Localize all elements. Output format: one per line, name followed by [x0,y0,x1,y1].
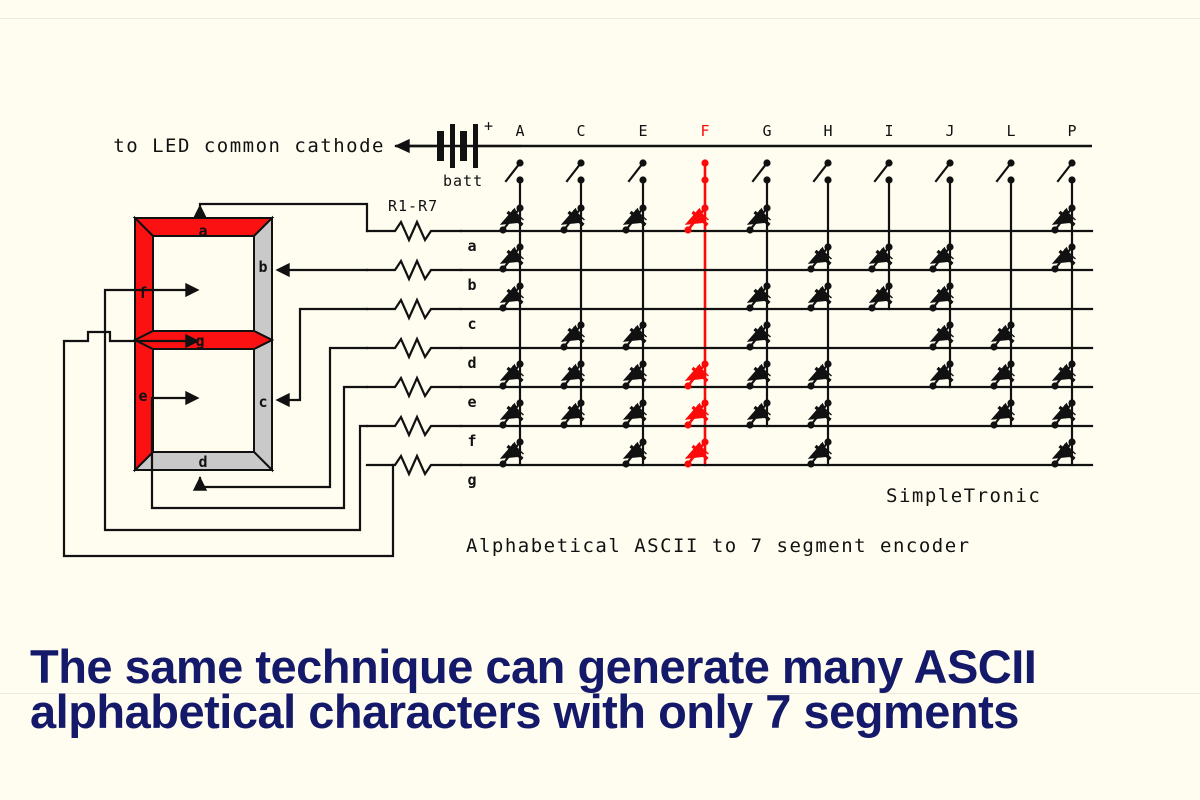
diode-C-e-cathode-node [577,360,584,367]
diode-E-g-cathode-node [639,438,646,445]
wire-d-arrow-icon [194,478,206,490]
resistor-f [367,417,461,435]
diode-J-b-cathode-node [946,243,953,250]
diode-A-g-cathode-node [516,438,523,445]
diode-F-e-cathode-node [701,360,708,367]
diode-E-e-cathode-node [639,360,646,367]
diode-E-e-anode-node [622,382,629,389]
column-header-G: G [762,122,771,140]
diode-L-e-cathode-node [1007,360,1014,367]
diode-H-c-cathode-node [824,282,831,289]
diode-L-d-anode-node [990,343,997,350]
row-label-f: f [467,432,476,450]
diode-A-f-anode-node [499,421,506,428]
diode-J-c-cathode-node [946,282,953,289]
caption-line-1: The same technique can generate many ASC… [30,645,1180,690]
diode-C-a-anode-node [560,226,567,233]
row-label-a: a [467,237,476,255]
wire-f-arrow-icon [186,284,198,296]
diode-J-b-anode-node [929,265,936,272]
diode-P-b-cathode-node [1068,243,1075,250]
diode-G-d-anode-node [746,343,753,350]
display-label-e: e [138,387,147,405]
display-label-d: d [198,453,207,471]
column-header-F: F [700,122,709,140]
wire-c-arrow-icon [277,394,289,406]
diode-F-g-cathode-node [701,438,708,445]
row-label-e: e [467,393,476,411]
diode-G-e-cathode-node [763,360,770,367]
diode-L-f-anode-node [990,421,997,428]
diode-P-f-anode-node [1051,421,1058,428]
resistor-d [367,339,461,357]
diode-I-b-anode-node [868,265,875,272]
diode-A-c-anode-node [499,304,506,311]
diode-L-e-anode-node [990,382,997,389]
diode-P-a-cathode-node [1068,204,1075,211]
diode-I-c-cathode-node [885,282,892,289]
diode-A-b-anode-node [499,265,506,272]
diode-C-a-cathode-node [577,204,584,211]
diode-A-e-anode-node [499,382,506,389]
diode-E-d-anode-node [622,343,629,350]
diode-A-a-cathode-node [516,204,523,211]
diode-P-a-anode-node [1051,226,1058,233]
diode-E-f-anode-node [622,421,629,428]
wire-a-arrow-icon [194,206,206,218]
resistor-a [367,222,461,240]
diode-P-e-cathode-node [1068,360,1075,367]
diode-A-a-anode-node [499,226,506,233]
diode-G-e-anode-node [746,382,753,389]
display-segment-e [135,340,153,470]
diode-C-d-cathode-node [577,321,584,328]
diode-G-c-anode-node [746,304,753,311]
resistor-g [367,456,461,474]
diode-E-d-cathode-node [639,321,646,328]
encoder-schematic: +battto LED common cathodeACEFGHIJLPabcd… [0,0,1200,640]
diode-J-d-anode-node [929,343,936,350]
battery-positive-label: + [484,117,494,135]
caption-block: The same technique can generate many ASC… [30,645,1180,734]
diode-H-e-cathode-node [824,360,831,367]
diode-E-f-cathode-node [639,399,646,406]
diode-A-b-cathode-node [516,243,523,250]
diode-F-a-anode-node [684,226,691,233]
diode-I-c-anode-node [868,304,875,311]
diode-F-e-anode-node [684,382,691,389]
wire-e-arrow-icon [186,392,198,404]
diode-J-e-cathode-node [946,360,953,367]
diode-C-f-anode-node [560,421,567,428]
diagram-title: Alphabetical ASCII to 7 segment encoder [466,535,971,557]
diode-H-f-anode-node [807,421,814,428]
cathode-arrow-icon [396,140,409,152]
diode-A-f-cathode-node [516,399,523,406]
diode-H-f-cathode-node [824,399,831,406]
diode-C-f-cathode-node [577,399,584,406]
column-header-C: C [576,122,585,140]
diode-G-d-cathode-node [763,321,770,328]
diode-P-g-anode-node [1051,460,1058,467]
brand-label: SimpleTronic [886,485,1041,507]
diode-H-g-anode-node [807,460,814,467]
diode-A-e-cathode-node [516,360,523,367]
diode-H-b-cathode-node [824,243,831,250]
diode-P-f-cathode-node [1068,399,1075,406]
diode-L-d-cathode-node [1007,321,1014,328]
diode-P-e-anode-node [1051,382,1058,389]
diode-C-d-anode-node [560,343,567,350]
diode-P-g-cathode-node [1068,438,1075,445]
diode-H-c-anode-node [807,304,814,311]
diode-F-a-cathode-node [701,204,708,211]
diode-L-f-cathode-node [1007,399,1014,406]
diode-H-e-anode-node [807,382,814,389]
battery-plate [460,131,467,161]
caption-line-2: alphabetical characters with only 7 segm… [30,690,1180,735]
diode-E-g-anode-node [622,460,629,467]
row-label-g: g [467,471,476,489]
diode-G-a-cathode-node [763,204,770,211]
diode-E-a-cathode-node [639,204,646,211]
display-label-f: f [138,284,147,302]
column-header-H: H [823,122,832,140]
wire-b-arrow-icon [277,264,289,276]
diode-F-f-anode-node [684,421,691,428]
resistor-c [367,300,461,318]
display-label-a: a [198,222,207,240]
diode-E-a-anode-node [622,226,629,233]
diode-J-d-cathode-node [946,321,953,328]
cathode-label: to LED common cathode [113,135,385,157]
diode-P-b-anode-node [1051,265,1058,272]
resistor-group-label: R1-R7 [388,197,438,215]
battery-label: batt [443,172,483,190]
display-label-c: c [258,393,267,411]
resistor-b [367,261,461,279]
diagram-stage: +battto LED common cathodeACEFGHIJLPabcd… [0,0,1200,800]
column-header-L: L [1006,122,1015,140]
resistor-e [367,378,461,396]
diode-H-g-cathode-node [824,438,831,445]
row-label-b: b [467,276,476,294]
diode-G-f-cathode-node [763,399,770,406]
diode-G-c-cathode-node [763,282,770,289]
diode-G-a-anode-node [746,226,753,233]
diode-H-b-anode-node [807,265,814,272]
column-header-A: A [515,122,524,140]
diode-C-e-anode-node [560,382,567,389]
diode-J-e-anode-node [929,382,936,389]
diode-F-g-anode-node [684,460,691,467]
battery-plate [450,124,455,168]
diode-G-f-anode-node [746,421,753,428]
row-label-d: d [467,354,476,372]
display-label-b: b [258,258,267,276]
column-header-P: P [1067,122,1076,140]
diode-I-b-cathode-node [885,243,892,250]
display-segment-b [254,218,272,340]
row-label-c: c [467,315,476,333]
diode-A-g-anode-node [499,460,506,467]
diode-F-f-cathode-node [701,399,708,406]
diode-A-c-cathode-node [516,282,523,289]
column-header-J: J [945,122,954,140]
column-header-I: I [884,122,893,140]
column-header-E: E [638,122,647,140]
diode-J-c-anode-node [929,304,936,311]
display-segment-f [135,218,153,340]
